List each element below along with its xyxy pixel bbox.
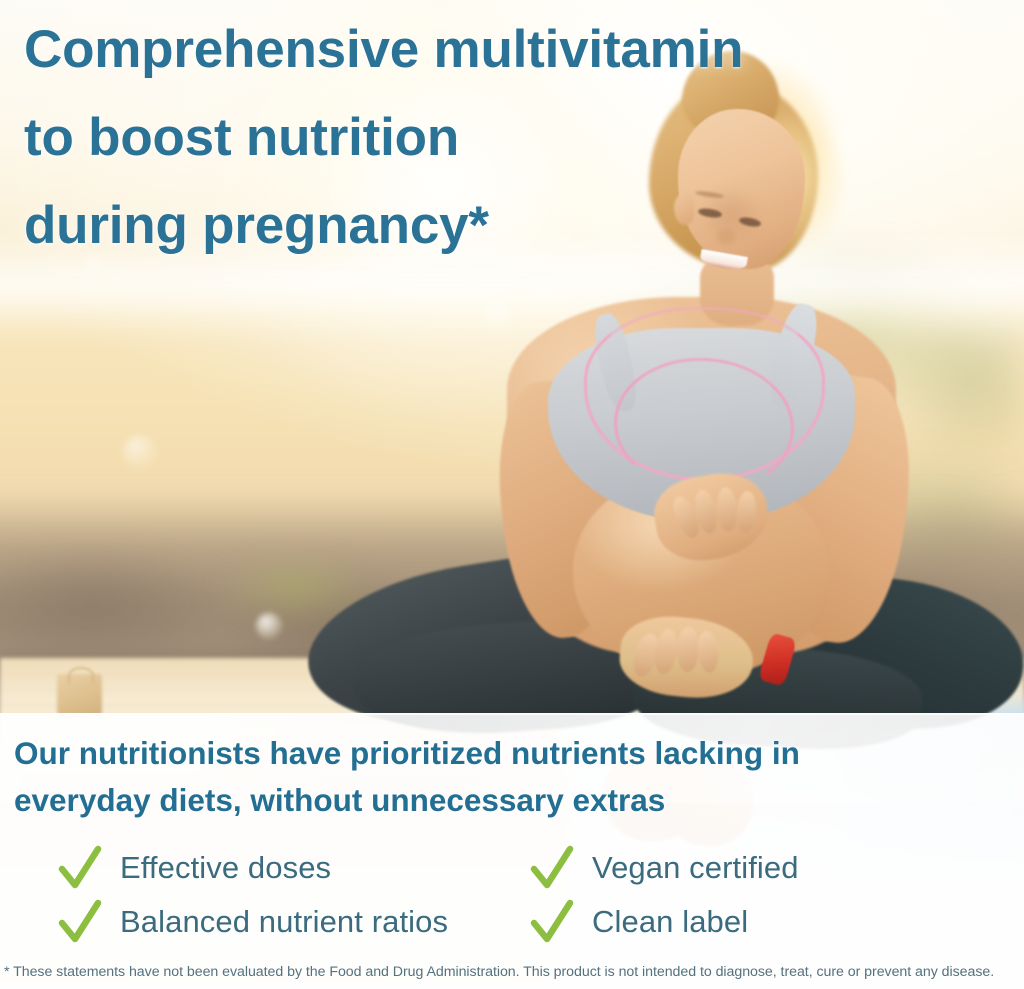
benefit-item-effective-doses: Effective doses bbox=[58, 845, 331, 891]
check-icon bbox=[530, 899, 574, 945]
benefit-item-vegan-certified: Vegan certified bbox=[530, 845, 799, 891]
headline: Comprehensive multivitamin to boost nutr… bbox=[24, 6, 904, 270]
check-icon bbox=[530, 845, 574, 891]
benefit-label: Balanced nutrient ratios bbox=[120, 904, 448, 940]
headline-line-3: during pregnancy* bbox=[24, 182, 904, 270]
check-icon bbox=[58, 845, 102, 891]
benefit-item-clean-label: Clean label bbox=[530, 899, 748, 945]
headline-line-1: Comprehensive multivitamin bbox=[24, 6, 904, 94]
subheading-line-1: Our nutritionists have prioritized nutri… bbox=[14, 730, 1012, 777]
subheading-line-2: everyday diets, without unnecessary extr… bbox=[14, 777, 1012, 824]
benefit-label: Clean label bbox=[592, 904, 748, 940]
check-icon bbox=[58, 899, 102, 945]
headline-line-2: to boost nutrition bbox=[24, 94, 904, 182]
fda-disclaimer: * These statements have not been evaluat… bbox=[4, 964, 1020, 980]
product-marketing-image: Comprehensive multivitamin to boost nutr… bbox=[0, 0, 1024, 989]
subheading: Our nutritionists have prioritized nutri… bbox=[14, 730, 1012, 824]
benefit-item-balanced-nutrient-ratios: Balanced nutrient ratios bbox=[58, 899, 448, 945]
benefit-label: Vegan certified bbox=[592, 850, 799, 886]
benefit-list: Effective doses Balanced nutrient ratios… bbox=[0, 845, 1024, 955]
benefit-label: Effective doses bbox=[120, 850, 331, 886]
frosted-overlay-edge bbox=[0, 713, 1024, 715]
